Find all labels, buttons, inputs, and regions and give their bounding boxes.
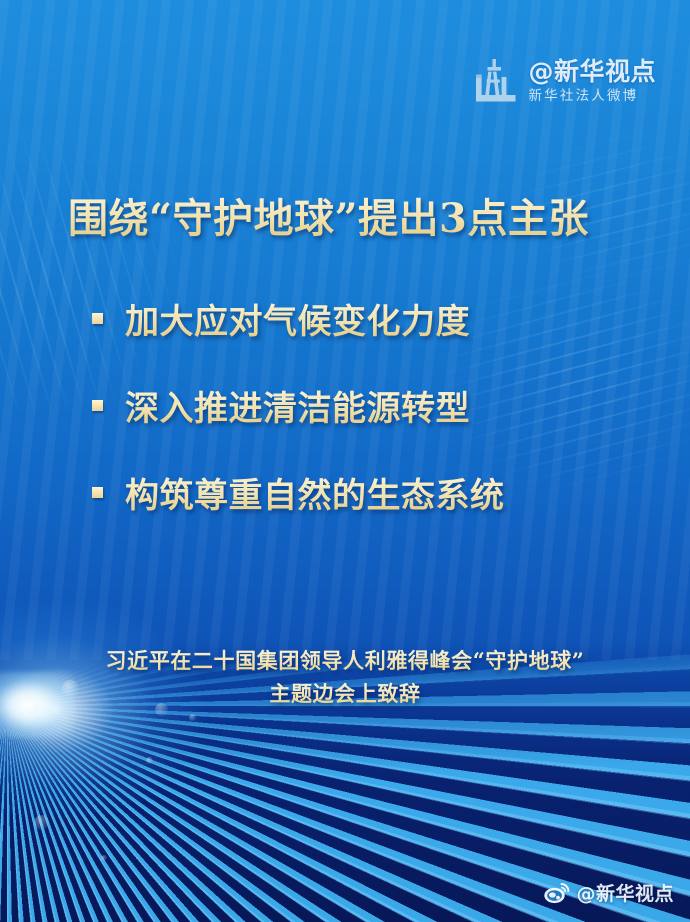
watermark: @新华视点 [544, 879, 674, 906]
list-item-label: 构筑尊重自然的生态系统 [125, 468, 505, 517]
page-title: 围绕“守护地球”提出3点主张 [68, 186, 589, 244]
list-item: 深入推进清洁能源转型 [92, 381, 505, 430]
caption-block: 习近平在二十国集团领导人利雅得峰会“守护地球” 主题边会上致辞 [0, 645, 690, 710]
list-item: 加大应对气候变化力度 [92, 294, 505, 343]
bokeh-dot [34, 815, 49, 830]
bokeh-dot [189, 714, 196, 721]
xinhua-tower-logo-icon [473, 57, 519, 105]
list-item: 构筑尊重自然的生态系统 [92, 468, 505, 517]
bokeh-dot [101, 855, 107, 861]
weibo-logo-icon [544, 882, 570, 904]
account-subtitle: 新华社法人微博 [528, 90, 656, 104]
poster-canvas: @新华视点 新华社法人微博 围绕“守护地球”提出3点主张 加大应对气候变化力度 … [0, 0, 690, 922]
square-bullet-icon [92, 313, 103, 324]
caption-line-2: 主题边会上致辞 [0, 678, 690, 711]
square-bullet-icon [92, 400, 103, 411]
caption-line-1: 习近平在二十国集团领导人利雅得峰会“守护地球” [0, 645, 690, 678]
square-bullet-icon [92, 487, 103, 498]
watermark-label: @新华视点 [576, 879, 674, 906]
bokeh-dot [146, 757, 153, 764]
account-text-block: @新华视点 新华社法人微博 [528, 59, 656, 104]
list-item-label: 深入推进清洁能源转型 [125, 381, 470, 430]
account-header[interactable]: @新华视点 新华社法人微博 [473, 57, 656, 105]
key-points-list: 加大应对气候变化力度 深入推进清洁能源转型 构筑尊重自然的生态系统 [92, 294, 505, 517]
account-name: @新华视点 [528, 59, 656, 84]
list-item-label: 加大应对气候变化力度 [125, 294, 470, 343]
